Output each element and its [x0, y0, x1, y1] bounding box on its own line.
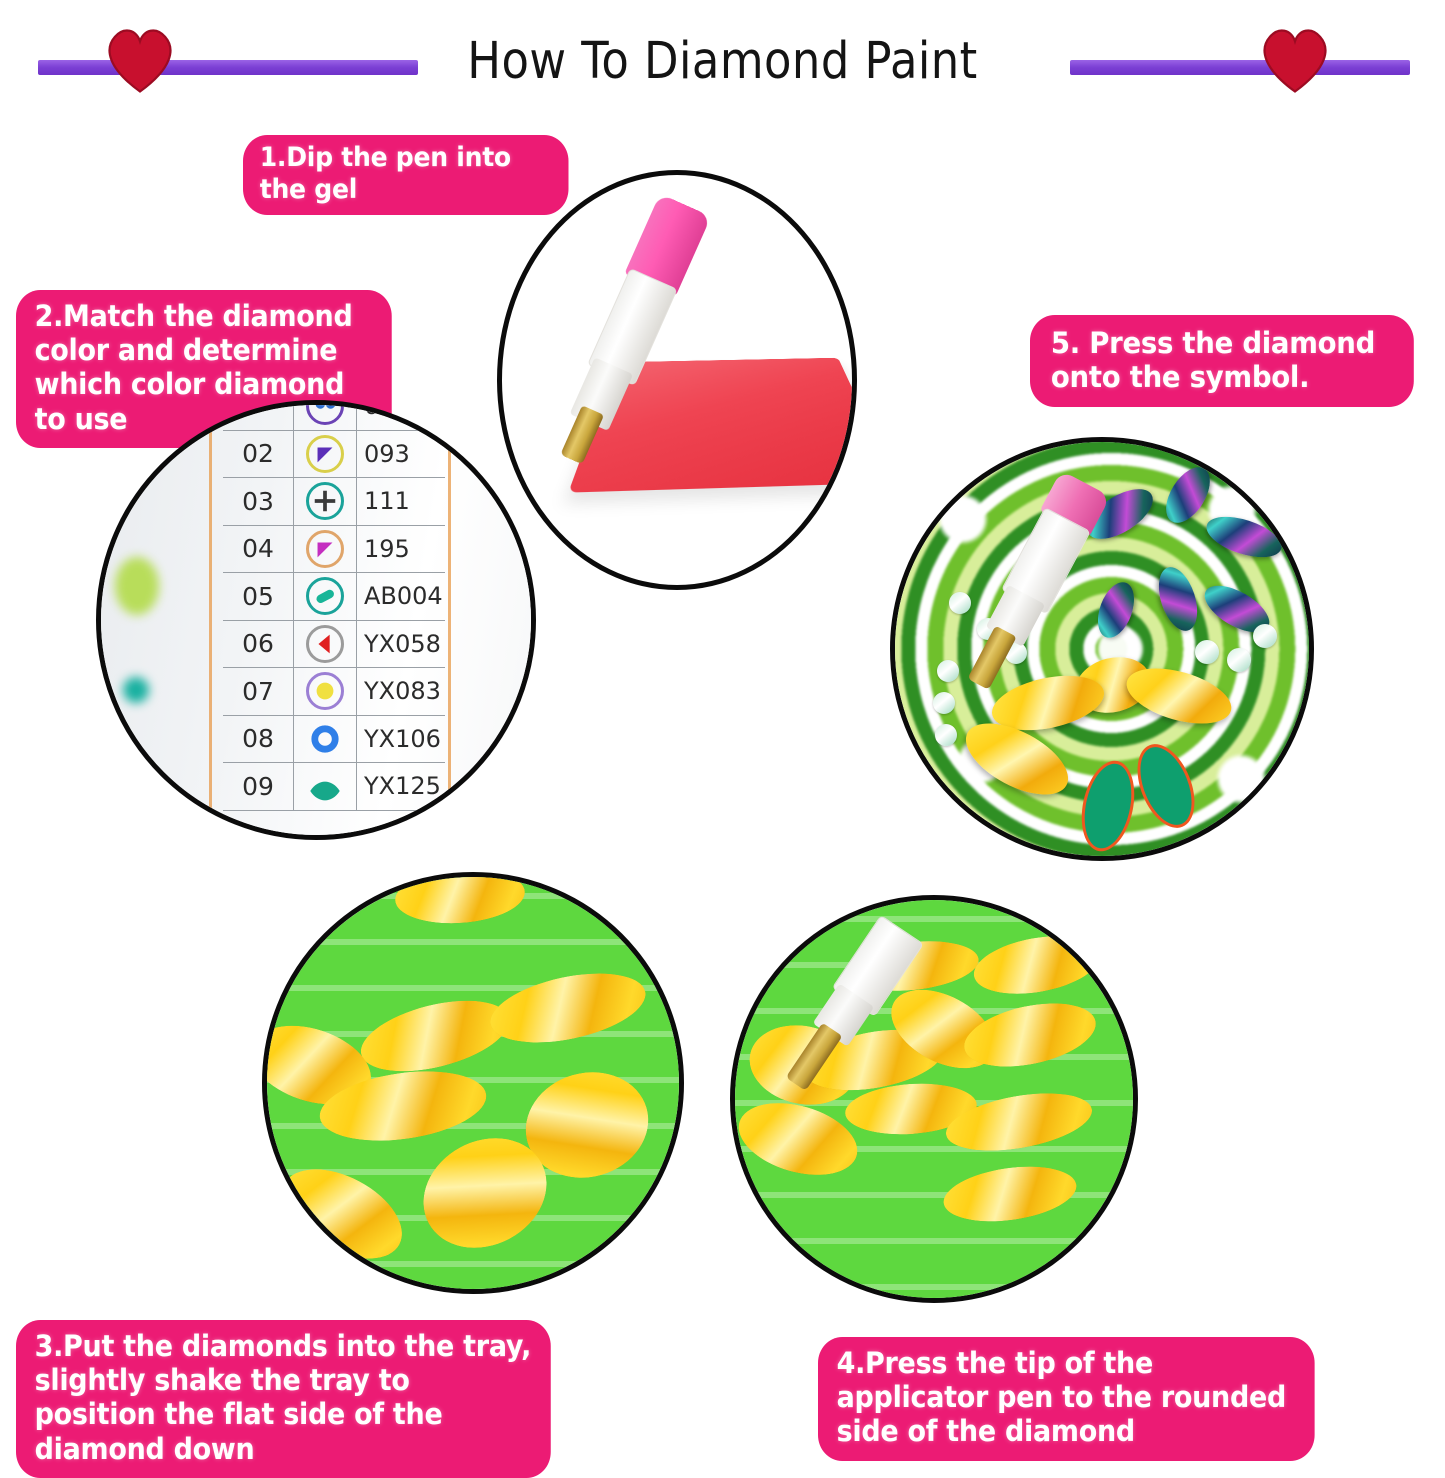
color-chart-row: 028: [223, 400, 445, 431]
chart-row-number: [223, 400, 294, 430]
canvas-symbol-dot: [949, 592, 971, 614]
chart-row-number: 04: [223, 526, 294, 573]
color-chart-row: 07YX083: [223, 668, 445, 716]
chart-row-code: YX106: [357, 725, 445, 753]
chart-row-number: 06: [223, 621, 294, 668]
color-chart-row: 05AB004: [223, 573, 445, 621]
canvas-symbol-dot: [1253, 624, 1277, 648]
chart-row-code: 093: [357, 440, 445, 468]
page-title: How To Diamond Paint: [87, 32, 1359, 91]
color-chart-photo: 02802093031110419505AB00406YX05807YX0830…: [96, 400, 536, 840]
diamonds-in-tray-photo: [262, 872, 684, 1294]
tray-ridge: [267, 1261, 679, 1267]
triangle-symbol: [294, 526, 357, 573]
color-chart-row: 09YX125: [223, 763, 445, 811]
placing-diamond-on-canvas-photo: [890, 437, 1314, 861]
color-chart-row: 02093: [223, 431, 445, 479]
canvas-symbol-dot: [933, 692, 955, 714]
chart-row-number: 05: [223, 573, 294, 620]
chart-row-number: 07: [223, 668, 294, 715]
chart-row-code: 195: [357, 535, 445, 563]
infographic-canvas: How To Diamond Paint 1.Dip the pen into …: [0, 0, 1445, 1445]
chart-row-code: AB004: [357, 582, 445, 610]
chart-row-code: YX125: [357, 772, 445, 800]
chart-row-code: 111: [357, 487, 445, 515]
chart-row-code: YX058: [357, 630, 445, 658]
tray-ridge: [735, 1284, 1133, 1290]
chart-row-number: 02: [223, 431, 294, 478]
step-4-label: 4.Press the tip of the applicator pen to…: [818, 1337, 1315, 1461]
double-dot-symbol: [294, 400, 357, 430]
triangle-symbol: [294, 431, 357, 478]
left-arrow-symbol: [294, 621, 357, 668]
step-5-label: 5. Press the diamond onto the symbol.: [1030, 315, 1414, 407]
chart-divider-right: [448, 405, 451, 835]
capsule-symbol: [294, 573, 357, 620]
tray-ridge: [735, 1238, 1133, 1244]
filled-circle-symbol: [294, 668, 357, 715]
canvas-teal-dot: [123, 677, 149, 703]
canvas-symbol-dot: [935, 724, 957, 746]
pen-tip: [967, 626, 1016, 690]
color-chart-row: 06YX058: [223, 621, 445, 669]
plus-symbol: [294, 478, 357, 525]
pen-dipped-in-gel-photo: [497, 170, 857, 590]
canvas-green-blob: [115, 557, 159, 615]
pen-picking-diamond-photo: [730, 895, 1138, 1303]
tray-ridge: [735, 916, 1133, 922]
canvas-symbol-dot: [1227, 648, 1251, 672]
canvas-symbol-dot: [1195, 640, 1219, 664]
chart-row-number: 08: [223, 716, 294, 763]
leaf-symbol: [294, 763, 357, 810]
color-chart-table: 02802093031110419505AB00406YX05807YX0830…: [223, 400, 445, 840]
color-chart-row: 03111: [223, 478, 445, 526]
step-3-label: 3.Put the diamonds into the tray, slight…: [16, 1320, 551, 1478]
chart-divider-left: [209, 405, 212, 835]
color-chart-row: 04195: [223, 526, 445, 574]
color-chart-row: 08YX106: [223, 716, 445, 764]
canvas-symbol-dot: [937, 660, 959, 682]
chart-row-number: 09: [223, 763, 294, 810]
chart-row-code: YX083: [357, 677, 445, 705]
tray-ridge: [267, 939, 679, 945]
ring-symbol: [294, 716, 357, 763]
chart-row-number: 03: [223, 478, 294, 525]
